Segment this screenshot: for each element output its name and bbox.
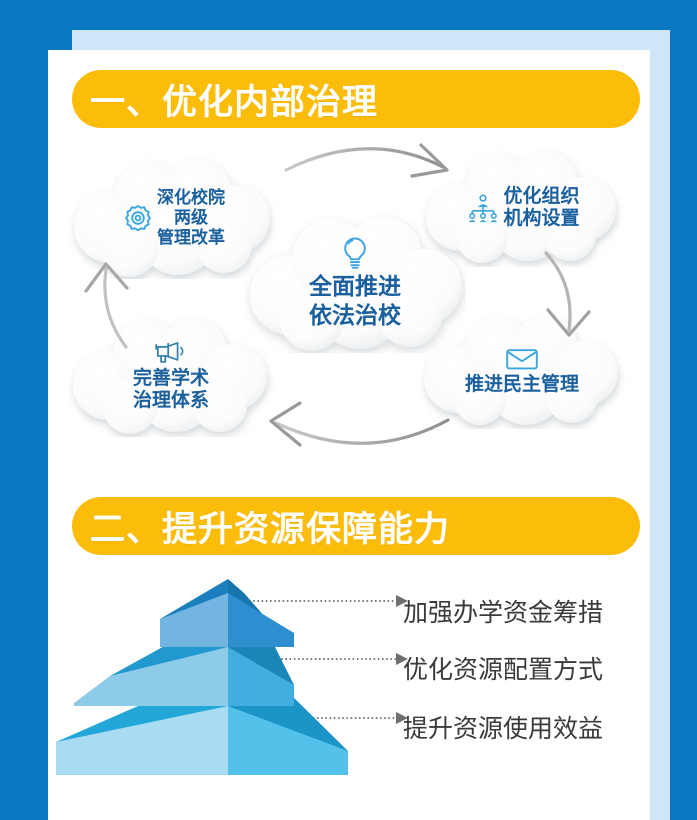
section-heading-text-1: 一、优化内部治理	[72, 74, 378, 125]
cloud-label-topright: 优化组织 机构设置	[503, 186, 579, 230]
cloud-node-bottomleft[interactable]: 完善学术 治理体系	[68, 315, 274, 437]
org-chart-icon	[466, 193, 500, 223]
envelope-icon	[505, 346, 539, 372]
lightbulb-icon	[340, 236, 370, 270]
pyramid-tier-top	[160, 579, 294, 647]
pyramid-label-1: 优化资源配置方式	[403, 650, 603, 686]
pyramid-label-2: 提升资源使用效益	[403, 709, 603, 745]
pyramid-label-0: 加强办学资金筹措	[403, 593, 603, 629]
pyramid-label-list: 加强办学资金筹措 优化资源配置方式 提升资源使用效益	[403, 575, 653, 775]
pyramid-diagram: 加强办学资金筹措 优化资源配置方式 提升资源使用效益	[48, 575, 650, 785]
cloud-diagram: 深化校院 两级 管理改革	[48, 135, 650, 480]
cloud-node-bottomright[interactable]: 推进民主管理	[416, 313, 628, 429]
section-header-1: 一、优化内部治理	[72, 70, 640, 128]
cloud-label-bottomright: 推进民主管理	[465, 374, 579, 396]
gear-icon	[123, 203, 153, 233]
cloud-label-center: 全面推进 依法治校	[309, 272, 401, 330]
infographic-root: 一、优化内部治理	[0, 0, 697, 820]
section-heading-text-2: 二、提升资源保障能力	[72, 501, 450, 552]
megaphone-icon	[155, 340, 187, 366]
cloud-label-bottomleft: 完善学术 治理体系	[133, 368, 209, 412]
cloud-label-topleft: 深化校院 两级 管理改革	[157, 188, 225, 247]
section-header-2: 二、提升资源保障能力	[72, 497, 640, 555]
